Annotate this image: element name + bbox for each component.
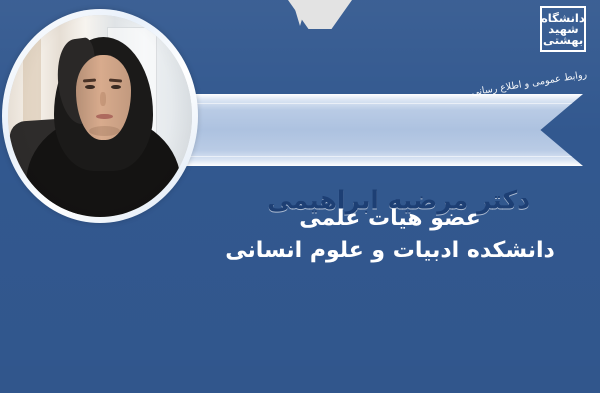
avatar bbox=[8, 15, 192, 217]
footer-strip bbox=[0, 393, 600, 400]
photo-vignette bbox=[8, 15, 192, 217]
subtitle-faculty: دانشکده ادبیات و علوم انسانی bbox=[200, 235, 580, 267]
subtitle-role: عضو هیات علمی bbox=[200, 203, 580, 235]
subtitle-block: عضو هیات علمی دانشکده ادبیات و علوم انسا… bbox=[200, 203, 580, 267]
university-logo: دانشگاه شهید بهشتی روابط عمومی و اطلاع ر… bbox=[496, 4, 588, 82]
poster-card: دکتر مرضیه ابراهیمی دانشگاه شهید بهشتی bbox=[0, 0, 600, 400]
logo-mark-icon: دانشگاه شهید بهشتی bbox=[540, 6, 586, 52]
avatar-ring bbox=[2, 9, 198, 223]
logo-line-3: بهشتی bbox=[543, 35, 583, 46]
